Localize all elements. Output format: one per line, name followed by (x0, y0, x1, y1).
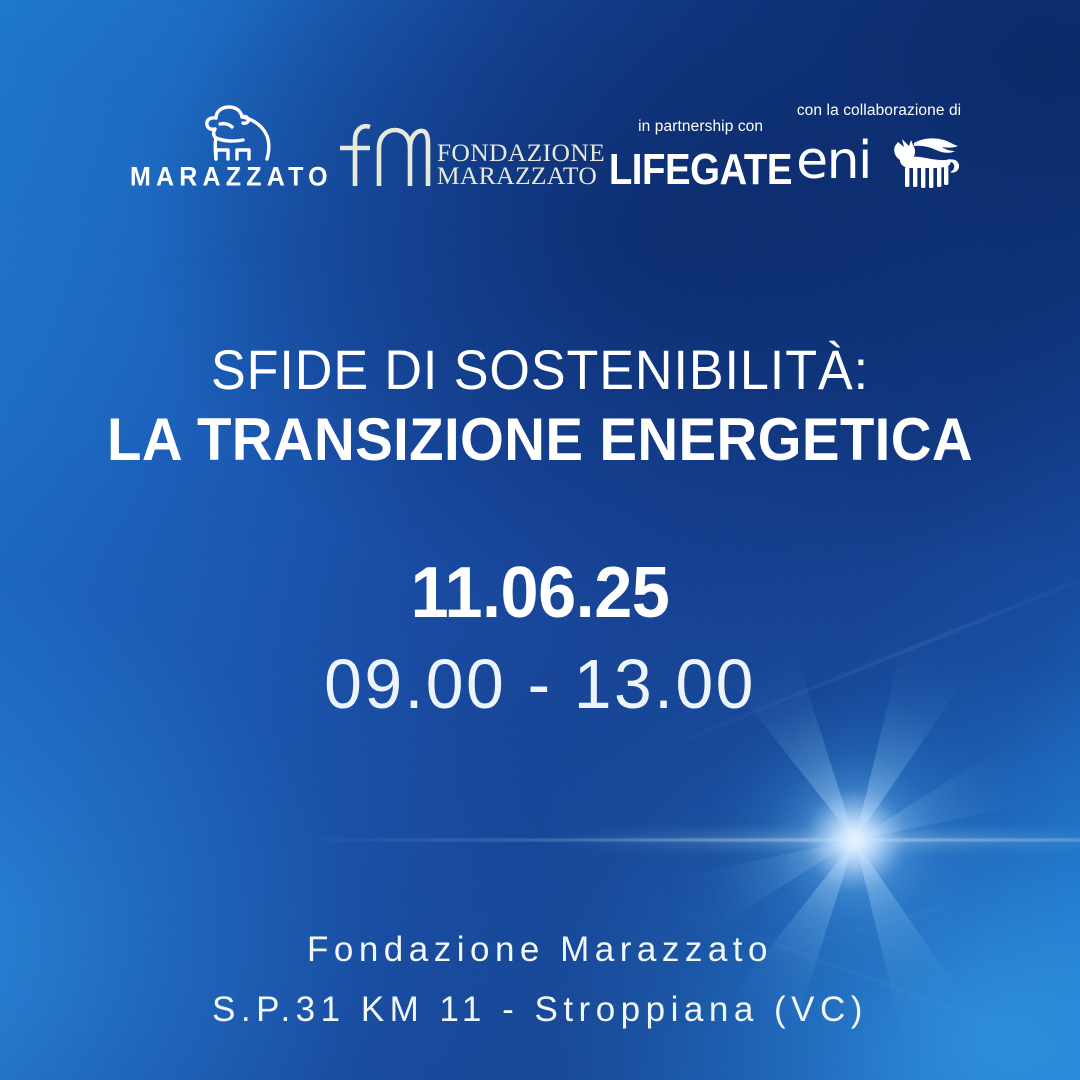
eni-lockup: eni (796, 134, 962, 190)
partner-fondazione-marazzato[interactable]: FONDAZIONE MARAZZATO (333, 70, 605, 190)
fondazione-marazzato-wordmark: FONDAZIONE MARAZZATO (437, 141, 605, 188)
venue-name: Fondazione Marazzato (0, 920, 1080, 980)
venue-address: S.P.31 KM 11 - Stroppiana (VC) (0, 980, 1080, 1040)
title-block: SFIDE DI SOSTENIBILITÀ: LA TRANSIZIONE E… (0, 340, 1080, 474)
partner-lifegate[interactable]: in partnership con LIFEGATE (605, 70, 796, 190)
eni-six-legged-dog-icon (880, 134, 962, 190)
partner-eni[interactable]: con la collaborazione di eni (796, 70, 962, 190)
event-date: 11.06.25 (27, 556, 1053, 632)
event-time: 09.00 - 13.00 (16, 646, 1064, 723)
venue-block: Fondazione Marazzato S.P.31 KM 11 - Stro… (0, 920, 1080, 1040)
fm-monogram-icon (333, 118, 431, 190)
partner-marazzato[interactable]: MARAZZATO (130, 70, 333, 190)
page-title-line-2: LA TRANSIZIONE ENERGETICA (32, 406, 1047, 473)
date-block: 11.06.25 09.00 - 13.00 (0, 556, 1080, 723)
elephant-icon (175, 104, 287, 162)
partners-bar: MARAZZATO FONDAZIONE MARAZZATO (0, 0, 1080, 190)
lifegate-wordmark-icon: LIFEGATE (609, 148, 792, 191)
eni-wordmark: eni (796, 141, 871, 183)
fondazione-marazzato-lockup: FONDAZIONE MARAZZATO (333, 118, 605, 190)
marazzato-lockup: MARAZZATO (130, 104, 333, 190)
event-poster: MARAZZATO FONDAZIONE MARAZZATO (0, 0, 1080, 1080)
marazzato-wordmark: MARAZZATO (130, 164, 333, 191)
partner-eni-label: con la collaborazione di (797, 102, 961, 120)
partner-lifegate-label: in partnership con (638, 118, 763, 136)
fondazione-line-2: MARAZZATO (437, 164, 597, 187)
page-title-line-1: SFIDE DI SOSTENIBILITÀ: (38, 340, 1042, 400)
